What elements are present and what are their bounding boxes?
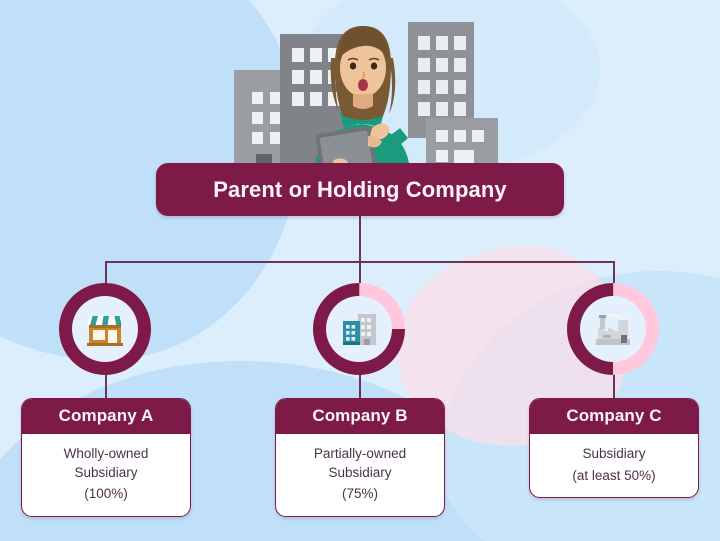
company-card-a-title: Company A bbox=[22, 399, 190, 434]
company-card-b[interactable]: Company B Partially-owned Subsidiary (75… bbox=[275, 398, 445, 517]
ring-icon-slot-company-a bbox=[72, 296, 138, 362]
company-card-b-title: Company B bbox=[276, 399, 444, 434]
company-card-c-body: Subsidiary (at least 50%) bbox=[530, 434, 698, 497]
company-card-b-desc-line2: Subsidiary bbox=[328, 465, 391, 480]
businesswoman-with-tablet-illustration bbox=[222, 8, 502, 176]
ring-icon-slot-company-b bbox=[326, 296, 392, 362]
company-card-b-percent: (75%) bbox=[284, 485, 436, 504]
connector-parent-stem bbox=[359, 215, 361, 262]
company-card-a-desc-line1: Wholly-owned bbox=[64, 446, 149, 461]
company-card-a[interactable]: Company A Wholly-owned Subsidiary (100%) bbox=[21, 398, 191, 517]
company-card-c-percent: (at least 50%) bbox=[538, 467, 690, 486]
ownership-ring-company-c bbox=[567, 283, 659, 375]
company-card-b-desc-line1: Partially-owned bbox=[314, 446, 406, 461]
company-card-c-title: Company C bbox=[530, 399, 698, 434]
ownership-ring-company-b bbox=[313, 283, 405, 375]
infographic-canvas: Parent or Holding Company bbox=[0, 0, 720, 541]
company-card-c[interactable]: Company C Subsidiary (at least 50%) bbox=[529, 398, 699, 498]
office-buildings-icon bbox=[337, 309, 381, 349]
parent-company-label: Parent or Holding Company bbox=[213, 177, 506, 203]
company-card-b-body: Partially-owned Subsidiary (75%) bbox=[276, 434, 444, 516]
company-card-c-desc-line1: Subsidiary bbox=[582, 446, 645, 461]
ownership-ring-company-a bbox=[59, 283, 151, 375]
company-card-a-percent: (100%) bbox=[30, 485, 182, 504]
factory-icon bbox=[590, 309, 636, 349]
parent-company-box[interactable]: Parent or Holding Company bbox=[156, 163, 564, 216]
storefront-shop-icon bbox=[83, 309, 127, 349]
company-card-a-body: Wholly-owned Subsidiary (100%) bbox=[22, 434, 190, 516]
company-card-a-desc-line2: Subsidiary bbox=[74, 465, 137, 480]
ring-icon-slot-company-c bbox=[580, 296, 646, 362]
